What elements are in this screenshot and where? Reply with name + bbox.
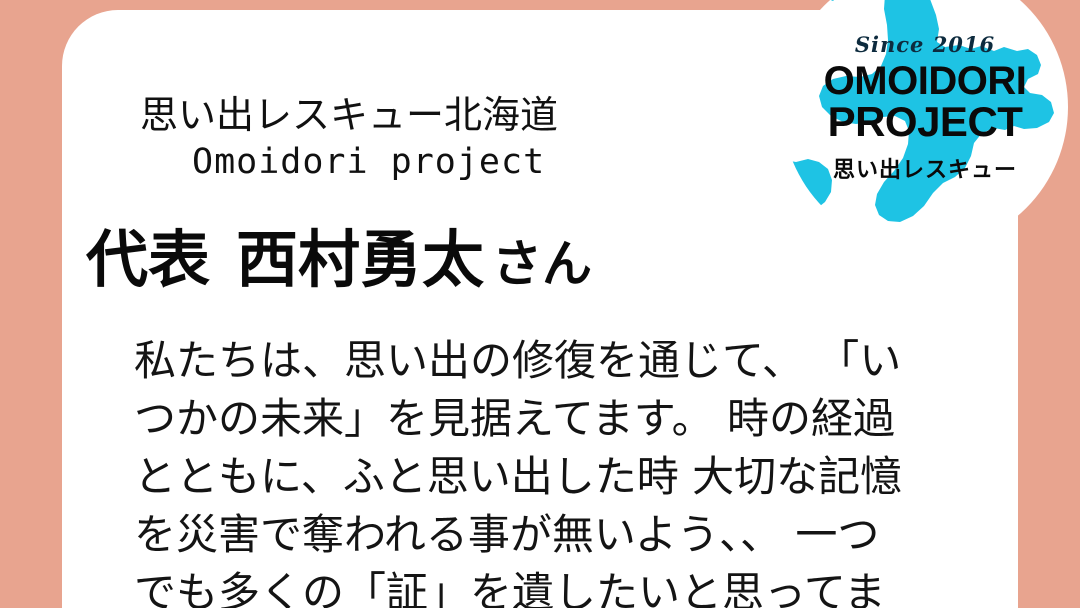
logo-since-label: Since 2016	[782, 32, 1068, 57]
logo-title-bottom: PROJECT	[782, 100, 1068, 144]
person-name: 西村勇太	[236, 223, 484, 296]
logo-subtitle-jp: 思い出レスキュー	[782, 152, 1068, 184]
statement-line: とともに、ふと思い出した時 大切な記憶	[134, 448, 1000, 506]
statement-paragraph: 私たちは、思い出の修復を通じて、 「い つかの未来」を見据えてます。 時の経過 …	[62, 332, 1018, 608]
poster-canvas: 思い出レスキュー北海道 Omoidori project 代表西村勇太さん 私た…	[0, 0, 1080, 608]
statement-line: 私たちは、思い出の修復を通じて、 「い	[134, 332, 1000, 390]
person-role: 代表	[86, 223, 210, 296]
statement-line: つかの未来」を見据えてます。 時の経過	[134, 390, 1000, 448]
statement-line: でも多くの「証」を遺したいと思ってま	[134, 564, 1000, 608]
omoidori-project-logo: Since 2016 OMOIDORI PROJECT 思い出レスキュー	[782, 0, 1068, 250]
logo-text-group: Since 2016 OMOIDORI PROJECT 思い出レスキュー	[782, 0, 1068, 250]
logo-title-top: OMOIDORI	[782, 60, 1068, 102]
statement-line: を災害で奪われる事が無いよう、、 一つ	[134, 506, 1000, 564]
person-honorific: さん	[492, 235, 592, 293]
